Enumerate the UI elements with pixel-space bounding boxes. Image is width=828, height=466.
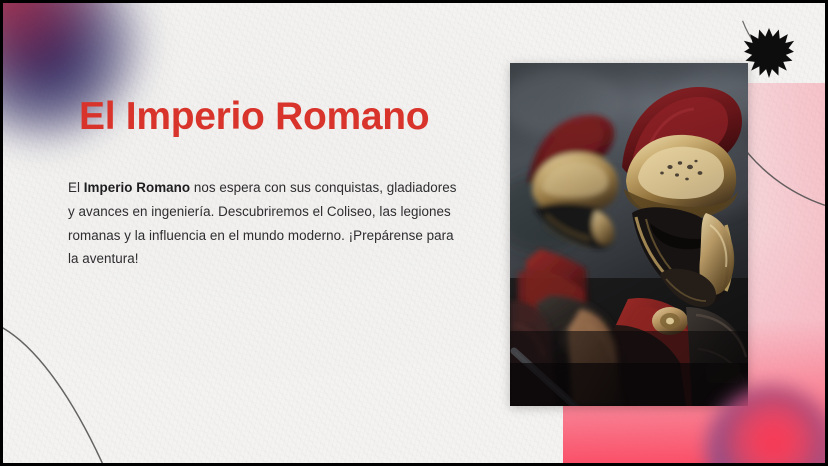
- roman-soldiers-artwork: [510, 63, 748, 406]
- slide-body-text: El Imperio Romano nos espera con sus con…: [68, 176, 460, 270]
- roman-soldiers-photo[interactable]: [510, 63, 748, 406]
- body-bold-term: Imperio Romano: [84, 180, 190, 195]
- starburst-icon: [743, 27, 795, 79]
- presentation-slide: El Imperio Romano El Imperio Romano nos …: [0, 0, 828, 466]
- curved-line-right: [737, 138, 825, 205]
- curved-line-right-upper: [743, 21, 755, 43]
- body-intro: El: [68, 180, 84, 195]
- curved-line-bottom-left: [3, 326, 102, 463]
- slide-title: El Imperio Romano: [79, 94, 429, 140]
